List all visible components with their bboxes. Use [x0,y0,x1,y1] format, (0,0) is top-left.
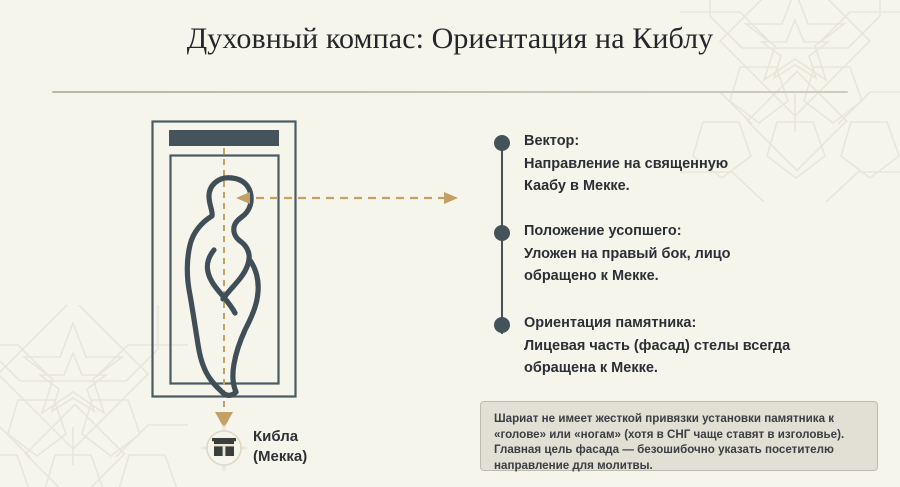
bullet-heading-position: Положение усопшего: [524,220,872,243]
bullet-dot-monument [494,317,510,333]
qibla-compass-label: Кибла (Мекка) [253,427,433,467]
bullet-body-vector: Направление на священную Каабу в Мекке. [524,153,872,198]
grave-orientation-diagram [0,0,470,487]
bullet-dot-vector [494,135,510,151]
kaaba-glyph [212,438,236,456]
bullet-item-position: Положение усопшего: Уложен на правый бок… [492,220,872,288]
slide-root: Духовный компас: Ориентация на Киблу [0,0,900,487]
headstone-bar [169,130,279,146]
bullet-list: Вектор: Направление на священную Каабу в… [492,126,882,336]
sharia-note-box: Шариат не имеет жесткой привязки установ… [480,401,878,471]
bullet-heading-monument: Ориентация памятника: [524,312,872,335]
qibla-label-line1: Кибла [253,428,298,445]
qibla-label-line2: (Мекка) [253,447,433,467]
qibla-direction-arrow [236,192,458,204]
bullet-item-monument: Ориентация памятника: Лицевая часть (фас… [492,312,872,380]
bullet-dot-position [494,225,510,241]
bullet-item-vector: Вектор: Направление на священную Каабу в… [492,130,872,198]
bullet-heading-vector: Вектор: [524,130,872,153]
kaaba-compass-icon [200,424,248,472]
deceased-body-outline [187,178,258,396]
bullet-body-position: Уложен на правый бок, лицо обращено к Ме… [524,243,872,288]
bullet-body-monument: Лицевая часть (фасад) стелы всегда обращ… [524,335,872,380]
sharia-note-text: Шариат не имеет жесткой привязки установ… [494,411,864,473]
